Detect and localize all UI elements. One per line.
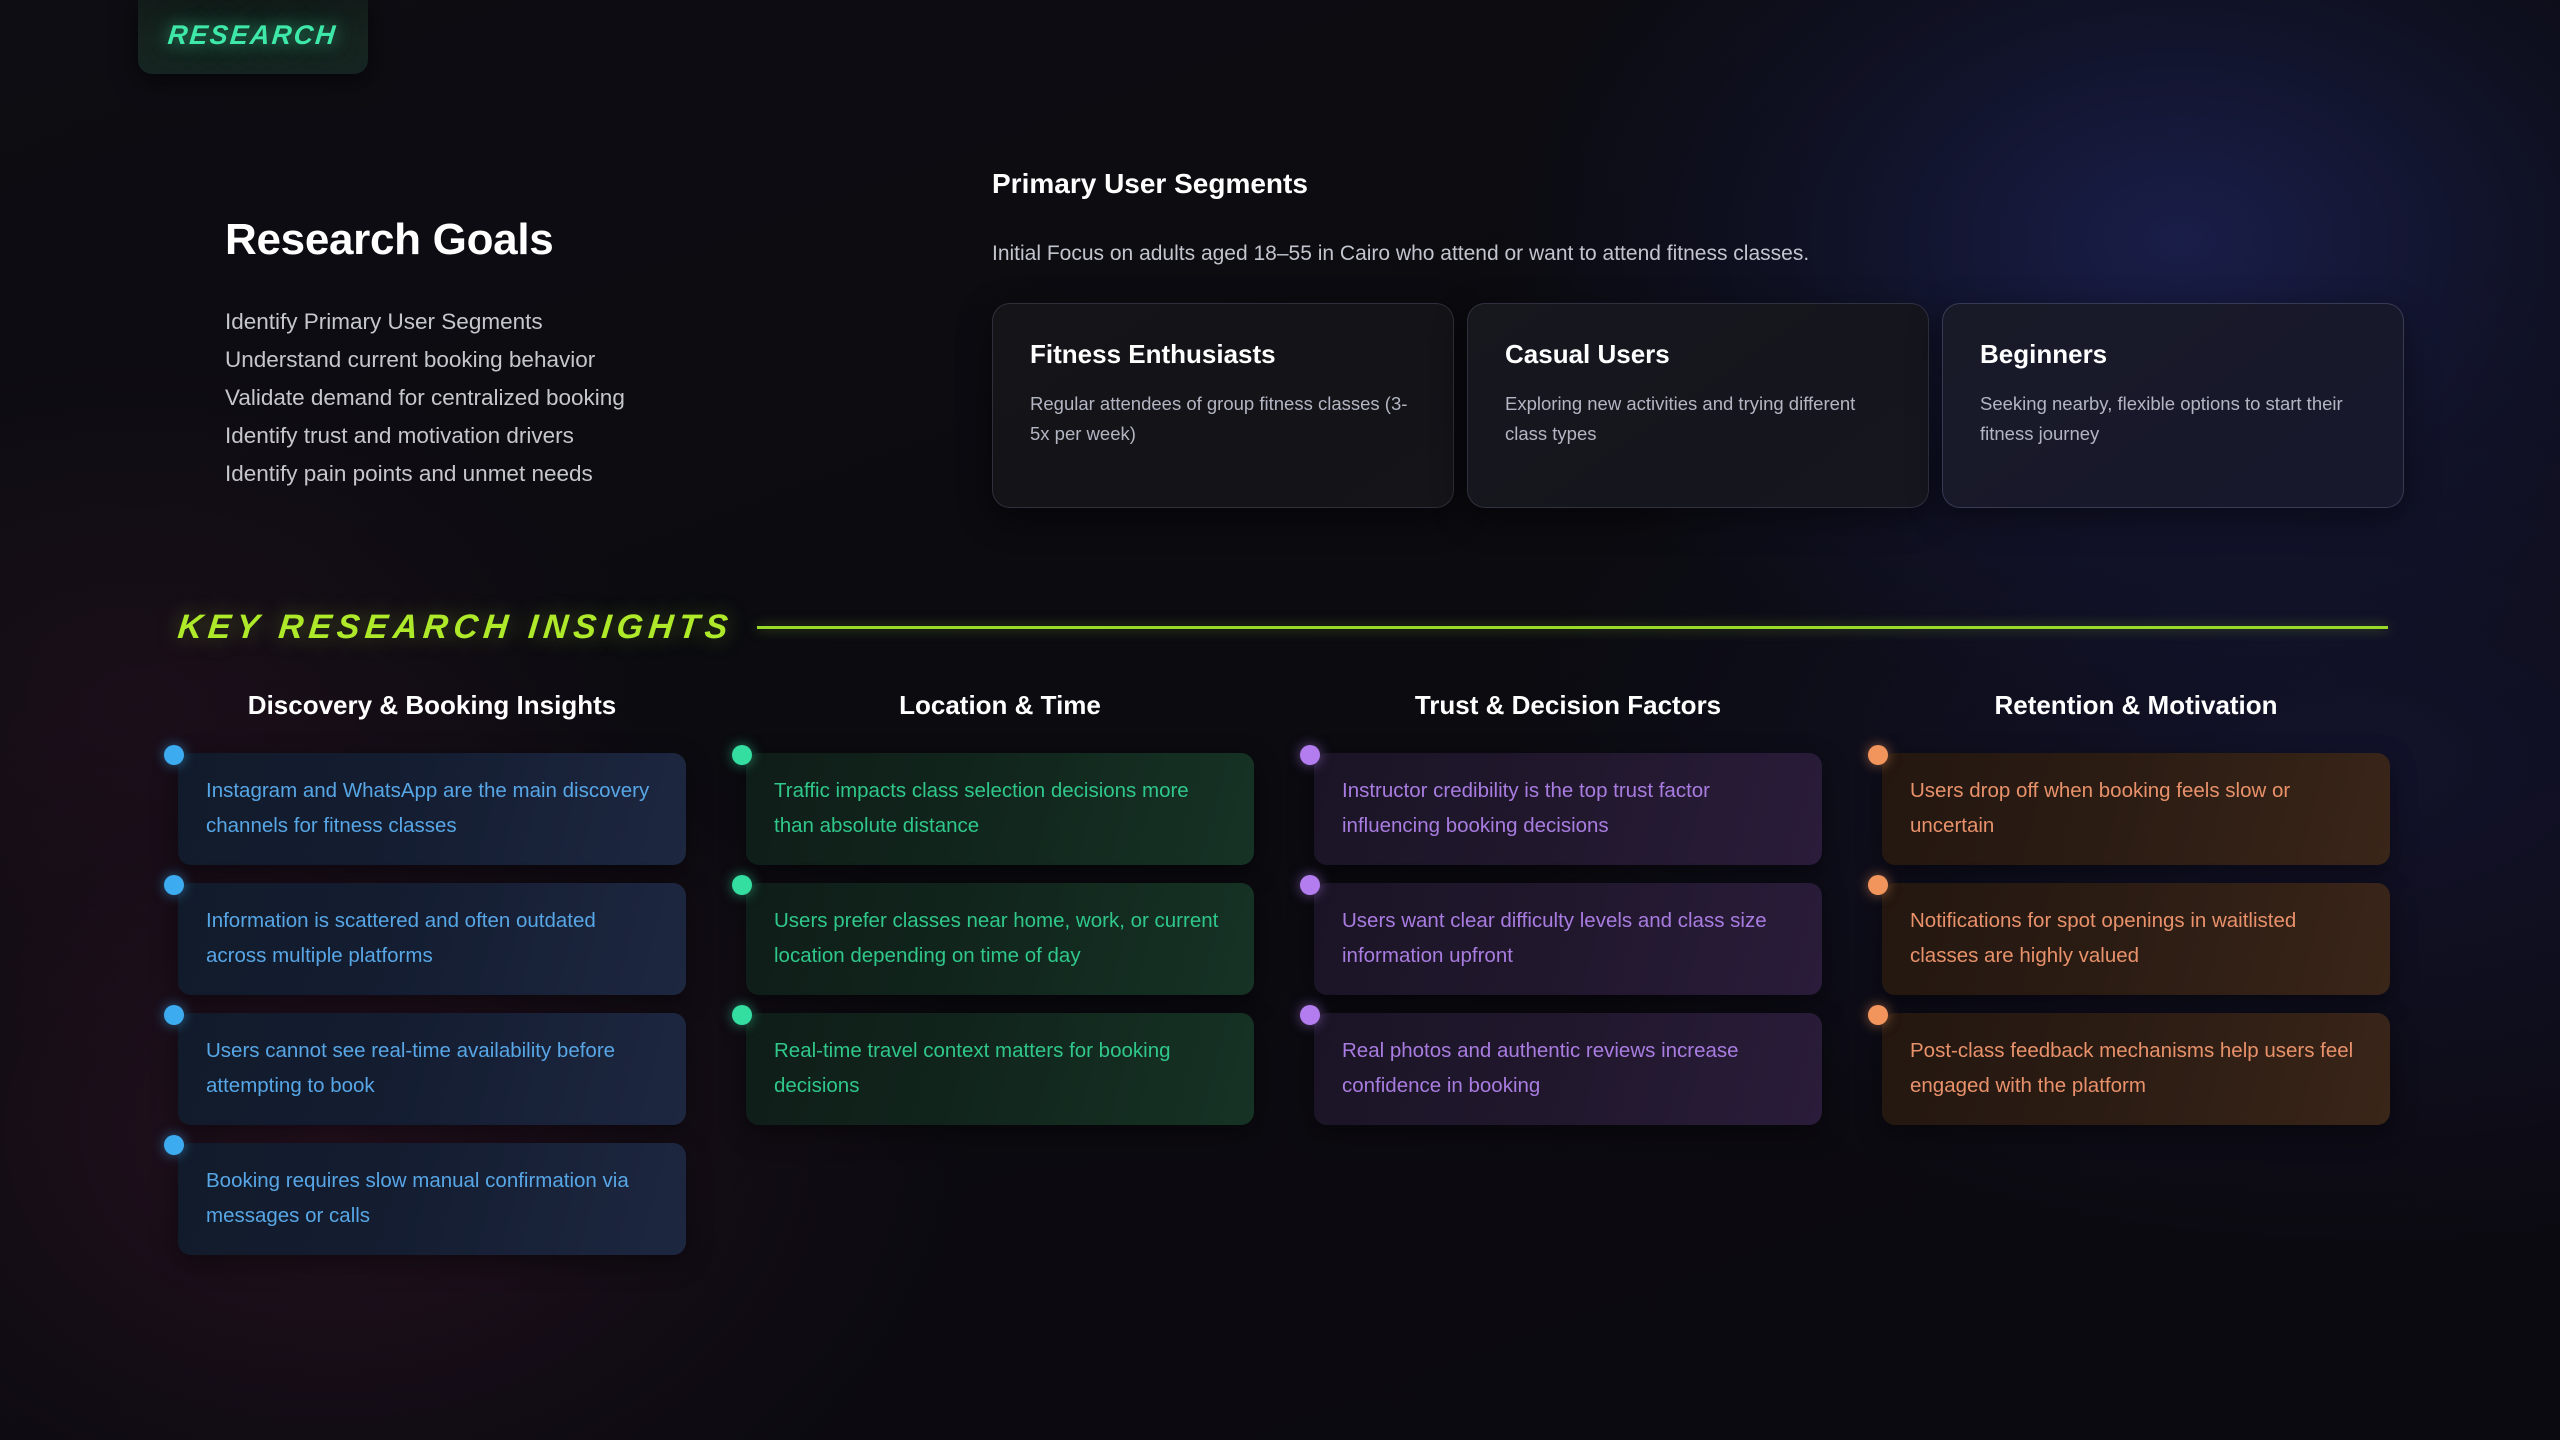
insight-card[interactable]: Instagram and WhatsApp are the main disc… bbox=[178, 753, 686, 865]
segment-card[interactable]: Beginners Seeking nearby, flexible optio… bbox=[1942, 303, 2404, 508]
insight-column-discovery-booking: Discovery & Booking Insights Instagram a… bbox=[178, 690, 686, 1273]
insight-bullet-dot-icon bbox=[164, 1135, 184, 1155]
insight-card[interactable]: Post-class feedback mechanisms help user… bbox=[1882, 1013, 2390, 1125]
insight-text: Users drop off when booking feels slow o… bbox=[1910, 773, 2364, 843]
insight-card[interactable]: Users prefer classes near home, work, or… bbox=[746, 883, 1254, 995]
insight-card[interactable]: Users cannot see real-time availability … bbox=[178, 1013, 686, 1125]
insight-text: Real-time travel context matters for boo… bbox=[774, 1033, 1228, 1103]
insight-text: Real photos and authentic reviews increa… bbox=[1342, 1033, 1796, 1103]
insight-card[interactable]: Real-time travel context matters for boo… bbox=[746, 1013, 1254, 1125]
primary-user-segments-title: Primary User Segments bbox=[992, 168, 2404, 200]
primary-user-segments-section: Primary User Segments Initial Focus on a… bbox=[992, 168, 2404, 508]
key-research-insights-header: KEY RESEARCH INSIGHTS bbox=[178, 608, 2388, 647]
insight-text: Information is scattered and often outda… bbox=[206, 903, 660, 973]
segment-card[interactable]: Casual Users Exploring new activities an… bbox=[1467, 303, 1929, 508]
insight-card[interactable]: Users want clear difficulty levels and c… bbox=[1314, 883, 1822, 995]
insight-text: Users cannot see real-time availability … bbox=[206, 1033, 660, 1103]
insight-text: Post-class feedback mechanisms help user… bbox=[1910, 1033, 2364, 1103]
insight-card[interactable]: Booking requires slow manual confirmatio… bbox=[178, 1143, 686, 1255]
research-goal-item: Identify pain points and unmet needs bbox=[225, 455, 785, 493]
insight-column-title: Location & Time bbox=[746, 690, 1254, 721]
insight-column-trust-decision: Trust & Decision Factors Instructor cred… bbox=[1314, 690, 1822, 1273]
segment-card-title: Fitness Enthusiasts bbox=[1030, 339, 1421, 370]
research-goal-item: Validate demand for centralized booking bbox=[225, 379, 785, 417]
research-goal-item: Identify Primary User Segments bbox=[225, 303, 785, 341]
research-goals-list: Identify Primary User Segments Understan… bbox=[225, 303, 785, 493]
research-goal-item: Understand current booking behavior bbox=[225, 341, 785, 379]
insight-bullet-dot-icon bbox=[1868, 745, 1888, 765]
insight-column-title: Discovery & Booking Insights bbox=[178, 690, 686, 721]
insight-column-location-time: Location & Time Traffic impacts class se… bbox=[746, 690, 1254, 1273]
insight-column-retention-motivation: Retention & Motivation Users drop off wh… bbox=[1882, 690, 2390, 1273]
insight-text: Users prefer classes near home, work, or… bbox=[774, 903, 1228, 973]
insight-text: Instructor credibility is the top trust … bbox=[1342, 773, 1796, 843]
insight-text: Instagram and WhatsApp are the main disc… bbox=[206, 773, 660, 843]
insight-bullet-dot-icon bbox=[164, 745, 184, 765]
insight-card[interactable]: Instructor credibility is the top trust … bbox=[1314, 753, 1822, 865]
segment-card-description: Exploring new activities and trying diff… bbox=[1505, 389, 1896, 449]
insight-bullet-dot-icon bbox=[1300, 875, 1320, 895]
insight-text: Users want clear difficulty levels and c… bbox=[1342, 903, 1796, 973]
research-goals-section: Research Goals Identify Primary User Seg… bbox=[225, 215, 785, 493]
insight-card[interactable]: Traffic impacts class selection decision… bbox=[746, 753, 1254, 865]
segment-card[interactable]: Fitness Enthusiasts Regular attendees of… bbox=[992, 303, 1454, 508]
insight-bullet-dot-icon bbox=[1868, 1005, 1888, 1025]
insight-bullet-dot-icon bbox=[1868, 875, 1888, 895]
insight-text: Booking requires slow manual confirmatio… bbox=[206, 1163, 660, 1233]
research-badge: RESEARCH bbox=[138, 0, 368, 74]
insight-bullet-dot-icon bbox=[164, 875, 184, 895]
insight-column-title: Retention & Motivation bbox=[1882, 690, 2390, 721]
segment-card-title: Casual Users bbox=[1505, 339, 1896, 370]
insight-columns: Discovery & Booking Insights Instagram a… bbox=[178, 690, 2390, 1273]
key-research-insights-title: KEY RESEARCH INSIGHTS bbox=[176, 608, 759, 647]
segment-card-description: Seeking nearby, flexible options to star… bbox=[1980, 389, 2371, 449]
insight-bullet-dot-icon bbox=[732, 1005, 752, 1025]
heading-divider-rule bbox=[757, 626, 2388, 629]
segment-card-description: Regular attendees of group fitness class… bbox=[1030, 389, 1421, 449]
insight-card[interactable]: Information is scattered and often outda… bbox=[178, 883, 686, 995]
research-goals-title: Research Goals bbox=[225, 215, 785, 265]
presentation-slide: RESEARCH Research Goals Identify Primary… bbox=[0, 0, 2560, 1440]
insight-text: Traffic impacts class selection decision… bbox=[774, 773, 1228, 843]
segment-card-title: Beginners bbox=[1980, 339, 2371, 370]
insight-bullet-dot-icon bbox=[1300, 745, 1320, 765]
research-badge-label: RESEARCH bbox=[167, 20, 339, 51]
insight-bullet-dot-icon bbox=[1300, 1005, 1320, 1025]
primary-user-segments-subtitle: Initial Focus on adults aged 18–55 in Ca… bbox=[992, 242, 2404, 266]
research-goal-item: Identify trust and motivation drivers bbox=[225, 417, 785, 455]
insight-text: Notifications for spot openings in waitl… bbox=[1910, 903, 2364, 973]
insight-bullet-dot-icon bbox=[732, 875, 752, 895]
insight-bullet-dot-icon bbox=[164, 1005, 184, 1025]
insight-bullet-dot-icon bbox=[732, 745, 752, 765]
insight-card[interactable]: Users drop off when booking feels slow o… bbox=[1882, 753, 2390, 865]
insight-card[interactable]: Real photos and authentic reviews increa… bbox=[1314, 1013, 1822, 1125]
segment-card-list: Fitness Enthusiasts Regular attendees of… bbox=[992, 303, 2404, 508]
insight-column-title: Trust & Decision Factors bbox=[1314, 690, 1822, 721]
insight-card[interactable]: Notifications for spot openings in waitl… bbox=[1882, 883, 2390, 995]
